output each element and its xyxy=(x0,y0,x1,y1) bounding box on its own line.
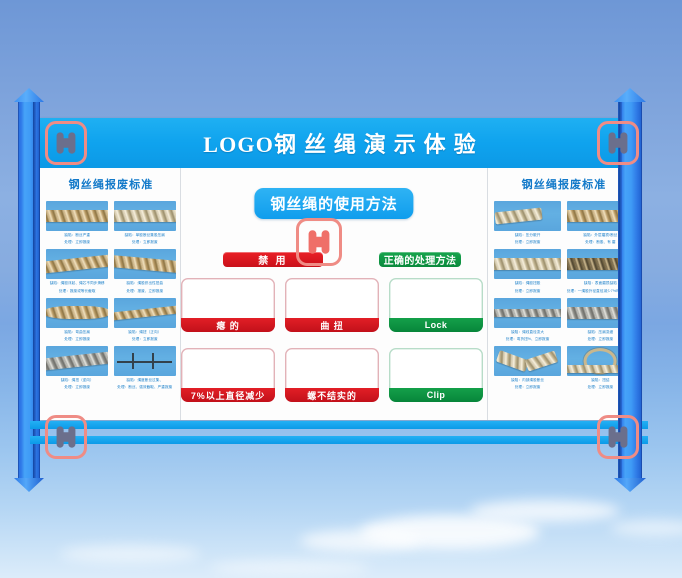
scrap-standard-cell: 缺陷：单股断丝集股压扁处理：立即报废 xyxy=(114,201,176,245)
rope-image xyxy=(46,255,108,274)
cell-caption-line1: 缺陷：断丝严重 xyxy=(46,233,108,238)
logo-watermark-center xyxy=(296,218,342,266)
rope-image xyxy=(494,309,561,317)
scrap-standard-cell: 缺陷：弯曲压扁处理：立即报废 xyxy=(46,298,108,342)
rope-image xyxy=(525,351,558,372)
post-cap-top xyxy=(614,88,646,102)
usage-card[interactable]: 曲 扭 xyxy=(285,278,379,332)
rope-photo xyxy=(46,249,108,279)
usage-card-label: 7%以上直径减少 xyxy=(181,388,275,402)
cell-caption-line1: 缺陷：内部绳股断丝 xyxy=(494,378,561,383)
wire-vertical xyxy=(132,353,134,369)
scrap-standard-cell: 缺陷：断丝严重处理：立即报废 xyxy=(46,201,108,245)
page-title: LOGO钢 丝 绳 演 示 体 验 xyxy=(203,127,477,159)
cell-caption-line2: 处理：弯折扭%、立即报废 xyxy=(494,337,561,342)
cloud-1 xyxy=(360,515,540,549)
rope-photo xyxy=(494,346,561,376)
rope-image xyxy=(46,352,108,371)
rope-image xyxy=(46,210,108,222)
cloud-2 xyxy=(300,530,420,552)
board-rail-upper xyxy=(30,421,648,429)
h-monogram-glyph xyxy=(606,425,630,449)
correct-method-label: 正确的处理方法 xyxy=(379,252,461,267)
post-cap-bottom xyxy=(614,478,646,492)
rope-photo xyxy=(114,249,176,279)
cell-caption-line2: 处理：立即报废 xyxy=(494,385,561,390)
scrap-standard-cell: 缺陷：绳股挤出性扭曲处理：报废、立即报废 xyxy=(114,249,176,293)
cloud-5 xyxy=(610,520,682,536)
usage-card[interactable]: 螺不结实的 xyxy=(285,348,379,402)
cell-caption-line2: 处理：立即报废 xyxy=(494,289,561,294)
cell-caption-line1: 缺陷：绳股扭股 xyxy=(494,281,561,286)
scrap-standard-cell: 缺陷：绳度断丝过集、处理：断丝、强效截取、严重报废 xyxy=(114,346,176,390)
scrap-standard-cell: 缺陷：绳股扭股处理：立即报废 xyxy=(494,249,561,293)
usage-card-label: 曲 扭 xyxy=(285,318,379,332)
h-monogram-glyph xyxy=(54,131,78,155)
center-panel-title: 钢丝绳的使用方法 xyxy=(254,188,413,219)
right-panel-grid: 缺陷：压分散开处理：立即报废缺陷：外层磨损/断丝处理：断股、有 磨缺陷：绳股扭股… xyxy=(494,201,634,395)
logo-mark-bottom-left xyxy=(45,415,87,459)
cell-caption-line2: 处理：报废、立即报废 xyxy=(114,289,176,294)
wire-horizontal xyxy=(117,361,172,363)
cloud-4 xyxy=(60,545,200,563)
cell-caption-line1: 缺陷：绳股浮起、绳芯不同步滑移 xyxy=(46,281,108,286)
cell-caption-line2: 处理：立即报废 xyxy=(114,337,176,342)
scrap-standard-cell: 缺陷：绳线直径变大处理：弯折扭%、立即报废 xyxy=(494,298,561,342)
post-cap-top xyxy=(14,88,44,102)
wire-vertical xyxy=(152,353,154,369)
cell-caption-line2: 处理：立即报废 xyxy=(114,240,176,245)
rope-photo xyxy=(46,298,108,328)
usage-card-label: 瘪 的 xyxy=(181,318,275,332)
h-monogram-glyph xyxy=(306,229,332,255)
rope-image xyxy=(46,306,108,320)
rope-image xyxy=(494,258,561,270)
rope-photo xyxy=(46,346,108,376)
rope-photo xyxy=(494,249,561,279)
scrap-standard-cell: 缺陷：绳扭（正向）处理：立即报废 xyxy=(114,298,176,342)
rope-image xyxy=(114,255,176,273)
display-board: LOGO钢 丝 绳 演 示 体 验 钢丝绳报废标准 缺陷：断丝严重处理：立即报废… xyxy=(40,118,640,420)
cell-caption-line1: 缺陷：压分散开 xyxy=(494,233,561,238)
cloud-3 xyxy=(470,500,620,522)
cell-caption-line1: 缺陷：绳线直径变大 xyxy=(494,330,561,335)
rope-image xyxy=(114,210,176,222)
logo-mark-top-right xyxy=(597,121,639,165)
right-panel-title: 钢丝绳报废标准 xyxy=(494,176,634,192)
usage-card[interactable]: Lock xyxy=(389,278,483,332)
cell-caption-line2: 处理：立即报废 xyxy=(46,240,108,245)
cell-caption-line1: 缺陷：绳股挤出性扭曲 xyxy=(114,281,176,286)
post-cap-bottom xyxy=(14,478,44,492)
scrap-standard-cell: 缺陷：内部绳股断丝处理：立即报废 xyxy=(494,346,561,390)
cell-caption-line2: 处理：立即报废 xyxy=(46,337,108,342)
scrap-standard-cell: 缺陷：绳扭（逆向）处理：立即报废 xyxy=(46,346,108,390)
rope-image xyxy=(114,305,176,320)
rope-photo xyxy=(114,346,176,376)
panel-left-scrap-standard: 钢丝绳报废标准 缺陷：断丝严重处理：立即报废缺陷：单股断丝集股压扁处理：立即报废… xyxy=(46,176,176,416)
logo-mark-bottom-right xyxy=(597,415,639,459)
rope-image xyxy=(495,208,543,225)
panel-center-usage: 钢丝绳的使用方法 禁 用 正确的处理方法 瘪 的曲 扭Lock7%以上直径减少螺… xyxy=(181,168,487,420)
rope-photo xyxy=(46,201,108,231)
h-monogram-glyph xyxy=(54,425,78,449)
usage-card-label: Clip xyxy=(389,388,483,402)
panel-right-scrap-standard: 钢丝绳报废标准 缺陷：压分散开处理：立即报废缺陷：外层磨损/断丝处理：断股、有 … xyxy=(494,176,634,416)
cell-caption-line1: 缺陷：绳扭（正向） xyxy=(114,330,176,335)
cell-caption-line1: 缺陷：弯曲压扁 xyxy=(46,330,108,335)
usage-card[interactable]: 7%以上直径减少 xyxy=(181,348,275,402)
cell-caption-line2: 处理：立即报废 xyxy=(46,385,108,390)
cloud-6 xyxy=(210,560,370,576)
usage-card[interactable]: Clip xyxy=(389,348,483,402)
divider-right xyxy=(487,168,488,420)
rope-photo xyxy=(494,298,561,328)
cell-caption-line2: 处理：断丝、强效截取、严重报废 xyxy=(114,385,176,390)
cell-caption-line1: 缺陷：单股断丝集股压扁 xyxy=(114,233,176,238)
left-panel-title: 钢丝绳报废标准 xyxy=(46,176,176,192)
scrap-standard-cell: 缺陷：绳股浮起、绳芯不同步滑移处理：报废或等长截取 xyxy=(46,249,108,293)
left-panel-grid: 缺陷：断丝严重处理：立即报废缺陷：单股断丝集股压扁处理：立即报废缺陷：绳股浮起、… xyxy=(46,201,176,395)
cell-caption-line2: 处理：报废或等长截取 xyxy=(46,289,108,294)
board-title-bar: LOGO钢 丝 绳 演 示 体 验 xyxy=(40,118,640,168)
rope-photo xyxy=(114,201,176,231)
usage-card[interactable]: 瘪 的 xyxy=(181,278,275,332)
cell-caption-line1: 缺陷：绳扭（逆向） xyxy=(46,378,108,383)
h-monogram-glyph xyxy=(606,131,630,155)
cell-caption-line2: 处理：立即报废 xyxy=(494,240,561,245)
logo-mark-top-left xyxy=(45,121,87,165)
cell-caption-line1: 缺陷：绳度断丝过集、 xyxy=(114,378,176,383)
usage-card-label: 螺不结实的 xyxy=(285,388,379,402)
rope-image xyxy=(496,350,529,372)
usage-card-label: Lock xyxy=(389,318,483,332)
rope-photo xyxy=(114,298,176,328)
board-rail-lower xyxy=(30,436,648,444)
scene-root: LOGO钢 丝 绳 演 示 体 验 钢丝绳报废标准 缺陷：断丝严重处理：立即报废… xyxy=(0,0,682,578)
scrap-standard-cell: 缺陷：压分散开处理：立即报废 xyxy=(494,201,561,245)
rope-photo xyxy=(494,201,561,231)
